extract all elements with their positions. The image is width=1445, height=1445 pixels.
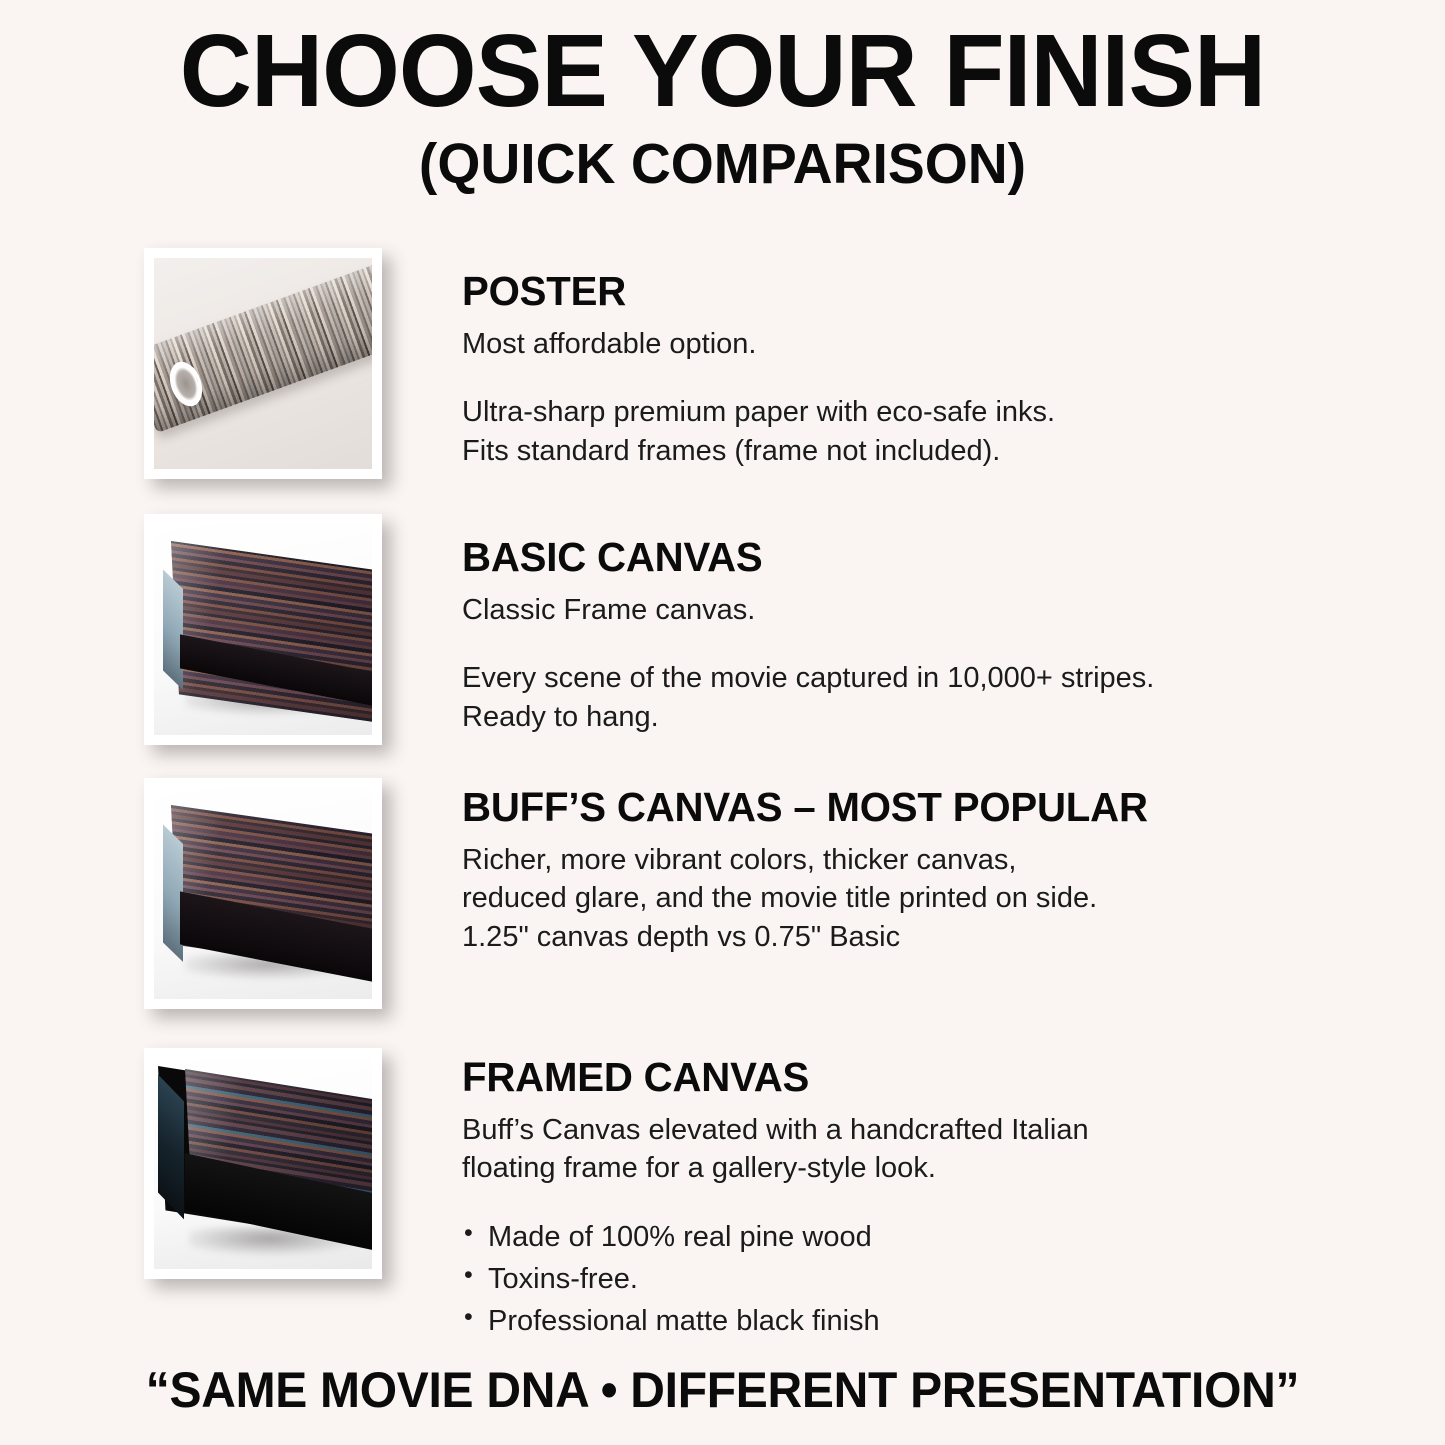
framed-canvas-image — [154, 1058, 372, 1269]
poster-body: Ultra-sharp premium paper with eco-safe … — [462, 393, 1055, 470]
list-item-framed-canvas[interactable]: FRAMED CANVAS Buff’s Canvas elevated wit… — [0, 1048, 1445, 1343]
basic-canvas-photo — [144, 514, 382, 745]
list-item-basic-canvas[interactable]: BASIC CANVAS Classic Frame canvas. Every… — [0, 514, 1445, 745]
rolled-poster-image — [154, 258, 372, 469]
basic-canvas-image — [154, 524, 372, 735]
framed-canvas-photo — [144, 1048, 382, 1279]
list-item: Professional matte black finish — [462, 1300, 1089, 1342]
framed-canvas-body: Buff’s Canvas elevated with a handcrafte… — [462, 1111, 1089, 1188]
buffs-canvas-body-line-3: 1.25" canvas depth vs 0.75" Basic — [462, 921, 900, 953]
framed-canvas-text-block: FRAMED CANVAS Buff’s Canvas elevated wit… — [462, 1048, 1089, 1343]
list-item: Made of 100% real pine wood — [462, 1216, 1089, 1258]
page-title: CHOOSE YOUR FINISH — [22, 18, 1424, 123]
footer-tagline: “SAME MOVIE DNA • DIFFERENT PRESENTATION… — [29, 1361, 1416, 1419]
buffs-canvas-body: Richer, more vibrant colors, thicker can… — [462, 841, 1162, 956]
poster-lead: Most affordable option. — [462, 325, 1055, 363]
list-item-buffs-canvas[interactable]: BUFF’S CANVAS – MOST POPULAR Richer, mor… — [0, 778, 1445, 1009]
poster-body-line-1: Ultra-sharp premium paper with eco-safe … — [462, 396, 1055, 428]
canvas-left-edge — [163, 569, 183, 689]
buffs-canvas-body-line-1: Richer, more vibrant colors, thicker can… — [462, 844, 1016, 876]
buffs-canvas-text-block: BUFF’S CANVAS – MOST POPULAR Richer, mor… — [462, 778, 1162, 956]
buffs-canvas-image — [154, 788, 372, 999]
buffs-canvas-title: BUFF’S CANVAS – MOST POPULAR — [462, 786, 1148, 829]
poster-title: POSTER — [462, 270, 1043, 313]
basic-canvas-title: BASIC CANVAS — [462, 536, 1141, 579]
poster-text-block: POSTER Most affordable option. Ultra-sha… — [462, 248, 1055, 470]
buffs-canvas-body-line-2: reduced glare, and the movie title print… — [462, 882, 1097, 914]
framed-canvas-body-line-1: Buff’s Canvas elevated with a handcrafte… — [462, 1114, 1089, 1146]
list-item-poster[interactable]: POSTER Most affordable option. Ultra-sha… — [0, 248, 1445, 479]
basic-canvas-body: Every scene of the movie captured in 10,… — [462, 659, 1154, 736]
page-footer: “SAME MOVIE DNA • DIFFERENT PRESENTATION… — [0, 1361, 1445, 1419]
basic-canvas-lead: Classic Frame canvas. — [462, 591, 1154, 629]
list-item: Toxins-free. — [462, 1258, 1089, 1300]
buffs-canvas-photo — [144, 778, 382, 1009]
framed-canvas-body-line-2: floating frame for a gallery-style look. — [462, 1152, 936, 1184]
page-header: CHOOSE YOUR FINISH (QUICK COMPARISON) — [0, 0, 1445, 195]
poster-body-line-2: Fits standard frames (frame not included… — [462, 435, 1000, 467]
rolled-poster-photo — [144, 248, 382, 479]
basic-canvas-text-block: BASIC CANVAS Classic Frame canvas. Every… — [462, 514, 1154, 736]
basic-canvas-body-line-1: Every scene of the movie captured in 10,… — [462, 662, 1154, 694]
framed-canvas-title: FRAMED CANVAS — [462, 1056, 1076, 1099]
framed-canvas-bullet-list: Made of 100% real pine wood Toxins-free.… — [462, 1216, 1089, 1343]
page-subtitle: (QUICK COMPARISON) — [22, 135, 1424, 195]
basic-canvas-body-line-2: Ready to hang. — [462, 701, 659, 733]
